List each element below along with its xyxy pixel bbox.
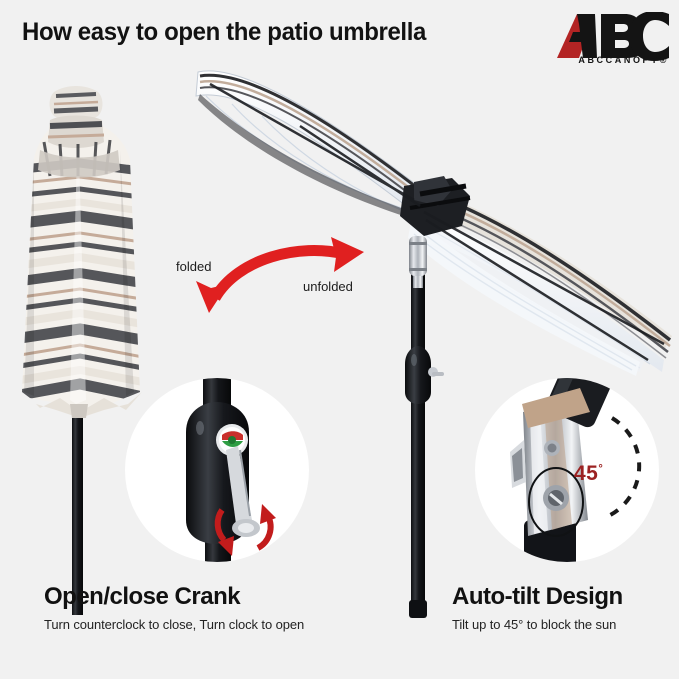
tilt-angle-value: 45 [574,462,598,485]
tilt-joint [409,236,427,276]
product-illustration [0,0,679,679]
infographic-root: How easy to open the patio umbrella ABCC… [0,0,679,679]
canopy-left-wing [196,71,420,220]
tilt-feature-title: Auto-tilt Design [452,583,623,611]
crank-housing [405,346,444,404]
tilt-feature-caption: Auto-tilt Design Tilt up to 45° to block… [452,583,623,632]
unfolded-label: unfolded [303,279,353,294]
tilt-feature-subtitle: Tilt up to 45° to block the sun [452,617,623,632]
crank-feature-subtitle: Turn counterclock to close, Turn clock t… [44,617,304,632]
abc-logo-wordmark: ABCCANOPY® [578,55,669,65]
tilt-angle-callout: 45° [574,462,603,486]
degree-symbol: ° [598,463,603,475]
crank-detail-inset [125,378,309,590]
crank-feature-caption: Open/close Crank Turn counterclock to cl… [44,583,304,632]
folded-umbrella [10,86,155,615]
folded-label: folded [176,259,211,274]
page-title: How easy to open the patio umbrella [22,18,426,47]
folded-to-unfolded-arrow [196,237,364,313]
crank-feature-title: Open/close Crank [44,583,304,611]
